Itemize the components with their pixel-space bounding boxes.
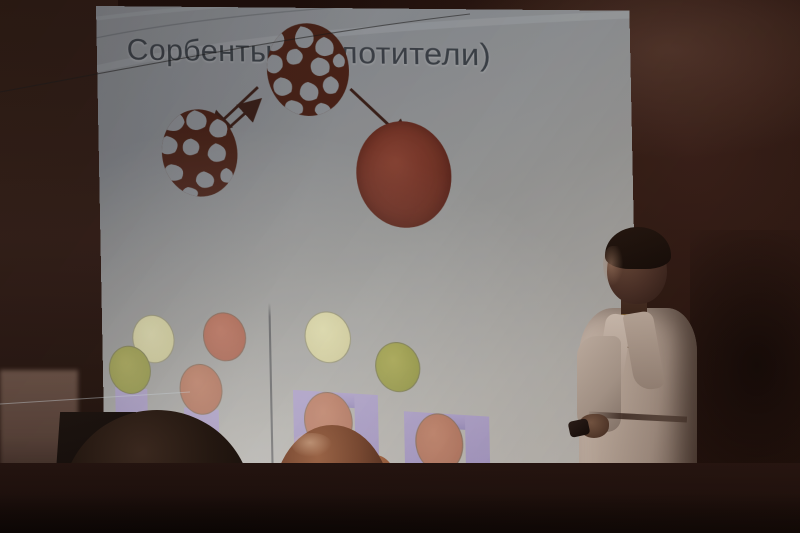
olive-molecule [375, 341, 421, 394]
brown-molecule [203, 311, 247, 362]
pale-yellow-molecule [304, 310, 352, 364]
presenter-face [603, 246, 623, 286]
comparison-divider [268, 302, 273, 483]
floor-area [0, 463, 800, 533]
audience-head-highlight [292, 433, 332, 457]
lecture-photo-scene: Сорбенты (поглотители) [0, 0, 800, 533]
